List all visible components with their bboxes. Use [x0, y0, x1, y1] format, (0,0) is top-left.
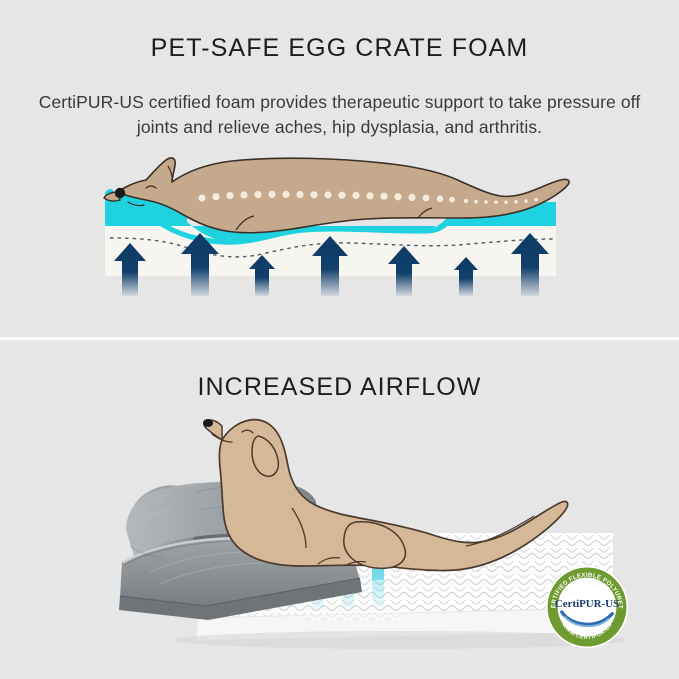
dog-figure-bottom	[203, 419, 568, 571]
certipur-us-seal: CONTAINS CERTIFIED FLEXIBLE POLYURETHANE…	[545, 565, 629, 649]
seal-center-text: CertiPUR-US	[555, 598, 619, 610]
dog-nose-icon	[115, 188, 125, 198]
page-title-top: PET-SAFE EGG CRATE FOAM	[0, 33, 679, 63]
panel-pet-safe-egg-crate-foam: PET-SAFE EGG CRATE FOAM CertiPUR-US cert…	[0, 0, 679, 337]
dog-nose-icon	[203, 419, 213, 427]
illustration-dog-on-foam-cross-section	[0, 130, 679, 337]
panel-increased-airflow: INCREASED AIRFLOW	[0, 340, 679, 679]
